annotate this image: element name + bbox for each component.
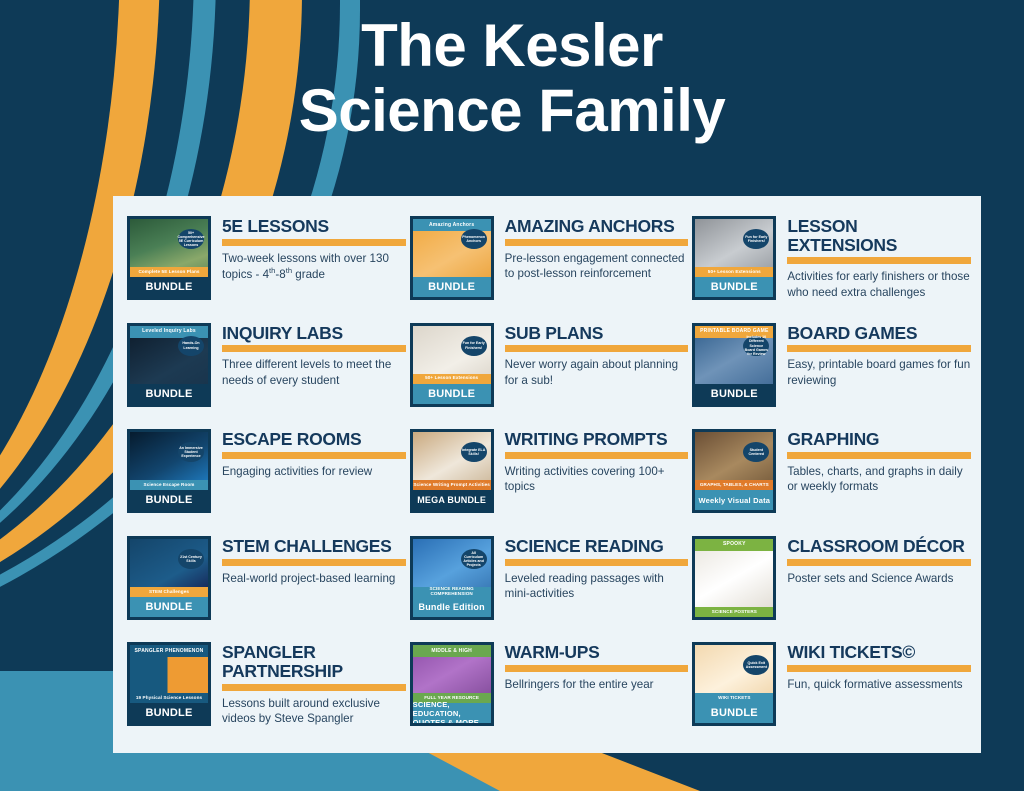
- product-divider: [505, 665, 689, 672]
- thumbnail-bundle-label: BUNDLE: [130, 277, 208, 297]
- product-divider: [787, 257, 971, 264]
- product-title: ESCAPE ROOMS: [222, 430, 406, 449]
- product-divider: [787, 452, 971, 459]
- product-description: Never worry again about planning for a s…: [505, 357, 689, 388]
- thumbnail-bundle-label: Weekly Visual Data: [695, 490, 773, 510]
- product-description: Engaging activities for review: [222, 464, 406, 479]
- product-thumbnail[interactable]: 21st Century SkillsSTEM ChallengesBUNDLE: [127, 536, 211, 620]
- thumbnail-sub-ribbon: SCIENCE READING COMPREHENSION: [413, 587, 491, 597]
- product-card[interactable]: Student CenteredGRAPHS, TABLES, & CHARTS…: [692, 423, 971, 530]
- product-title: LESSON EXTENSIONS: [787, 217, 971, 254]
- thumbnail-bundle-label: BUNDLE: [130, 703, 208, 723]
- product-divider: [505, 559, 689, 566]
- product-text: BOARD GAMESEasy, printable board games f…: [787, 321, 971, 389]
- thumbnail-sub-ribbon: SCIENCE POSTERS: [695, 607, 773, 617]
- product-card[interactable]: Fun for Early Finishers!50+ Lesson Exten…: [692, 210, 971, 317]
- product-thumbnail[interactable]: Amazing AnchorsPhenomenon AnchorsBUNDLE: [410, 216, 494, 300]
- product-title: WIKI TICKETS©: [787, 643, 971, 662]
- product-divider: [222, 345, 406, 352]
- product-text: CLASSROOM DÉCORPoster sets and Science A…: [787, 534, 971, 586]
- thumbnail-bundle-label: BUNDLE: [695, 703, 773, 723]
- product-title: GRAPHING: [787, 430, 971, 449]
- thumbnail-bundle-label: BUNDLE: [130, 384, 208, 404]
- thumbnail-badge: Integrate ELA Skills!: [461, 442, 487, 462]
- product-thumbnail[interactable]: MIDDLE & HIGHFULL YEAR RESOURCESCIENCE, …: [410, 642, 494, 726]
- product-divider: [505, 345, 689, 352]
- product-description: Poster sets and Science Awards: [787, 571, 971, 586]
- product-title: SUB PLANS: [505, 324, 689, 343]
- product-title: STEM CHALLENGES: [222, 537, 406, 556]
- thumbnail-badge: Hands-On Learning: [178, 336, 204, 356]
- product-text: WIKI TICKETS©Fun, quick formative assess…: [787, 640, 971, 692]
- product-description: Writing activities covering 100+ topics: [505, 464, 689, 495]
- product-thumbnail[interactable]: Fun for Early Finishers!50+ Lesson Exten…: [692, 216, 776, 300]
- product-title: INQUIRY LABS: [222, 324, 406, 343]
- product-title: 5E LESSONS: [222, 217, 406, 236]
- thumbnail-sub-ribbon: 50+ Lesson Extensions: [413, 374, 491, 384]
- product-card[interactable]: Leveled Inquiry LabsHands-On LearningBUN…: [127, 317, 406, 424]
- product-description: Three different levels to meet the needs…: [222, 357, 406, 388]
- product-card[interactable]: 21st Century SkillsSTEM ChallengesBUNDLE…: [127, 530, 406, 637]
- product-divider: [222, 452, 406, 459]
- thumbnail-bundle-label: BUNDLE: [695, 277, 773, 297]
- product-card[interactable]: Quick Exit AssessmentWIKI TICKETSBUNDLEW…: [692, 636, 971, 743]
- product-title: AMAZING ANCHORS: [505, 217, 689, 236]
- product-divider: [787, 345, 971, 352]
- product-thumbnail[interactable]: Leveled Inquiry LabsHands-On LearningBUN…: [127, 323, 211, 407]
- product-description: Two-week lessons with over 130 topics - …: [222, 251, 406, 283]
- product-text: ESCAPE ROOMSEngaging activities for revi…: [222, 427, 406, 479]
- product-description: Activities for early finishers or those …: [787, 269, 971, 300]
- thumbnail-badge: 50+ Comprehensive 5E Curriculum Lessons: [178, 229, 204, 249]
- desc-part: grade: [292, 268, 325, 281]
- product-text: AMAZING ANCHORSPre-lesson engagement con…: [505, 214, 689, 282]
- product-card[interactable]: MIDDLE & HIGHFULL YEAR RESOURCESCIENCE, …: [410, 636, 689, 743]
- product-description: Fun, quick formative assessments: [787, 677, 971, 692]
- desc-part: -8: [275, 268, 285, 281]
- product-thumbnail[interactable]: SPOOKYSCIENCE POSTERS: [692, 536, 776, 620]
- product-card[interactable]: Integrate ELA Skills!Science Writing Pro…: [410, 423, 689, 530]
- product-card[interactable]: Amazing AnchorsPhenomenon AnchorsBUNDLEA…: [410, 210, 689, 317]
- product-text: SUB PLANSNever worry again about plannin…: [505, 321, 689, 389]
- product-divider: [222, 559, 406, 566]
- product-title: CLASSROOM DÉCOR: [787, 537, 971, 556]
- product-title: BOARD GAMES: [787, 324, 971, 343]
- thumbnail-bundle-label: SCIENCE, EDUCATION, QUOTES & MORE: [413, 703, 491, 723]
- product-text: INQUIRY LABSThree different levels to me…: [222, 321, 406, 389]
- thumbnail-badge: 21st Century Skills: [178, 549, 204, 569]
- poster-root: The Kesler Science Family 50+ Comprehens…: [0, 0, 1024, 791]
- product-title: SCIENCE READING: [505, 537, 689, 556]
- thumbnail-bundle-label: BUNDLE: [413, 384, 491, 404]
- thumbnail-bundle-label: BUNDLE: [130, 490, 208, 510]
- thumbnail-badge: Phenomenon Anchors: [461, 229, 487, 249]
- product-text: SPANGLER PARTNERSHIPLessons built around…: [222, 640, 406, 726]
- title-line-2: Science Family: [0, 79, 1024, 144]
- product-thumbnail[interactable]: 50+ Comprehensive 5E Curriculum LessonsC…: [127, 216, 211, 300]
- product-description: Real-world project-based learning: [222, 571, 406, 586]
- thumbnail-bundle-label: BUNDLE: [130, 597, 208, 617]
- thumbnail-top-ribbon: SPANGLER PHENOMENON: [130, 645, 208, 657]
- product-text: LESSON EXTENSIONSActivities for early fi…: [787, 214, 971, 300]
- product-grid: 50+ Comprehensive 5E Curriculum LessonsC…: [127, 210, 971, 743]
- product-divider: [505, 452, 689, 459]
- product-description: Leveled reading passages with mini-activ…: [505, 571, 689, 602]
- product-divider: [505, 239, 689, 246]
- product-description: Pre-lesson engagement connected to post-…: [505, 251, 689, 282]
- product-thumbnail[interactable]: Student CenteredGRAPHS, TABLES, & CHARTS…: [692, 429, 776, 513]
- product-title: WARM-UPS: [505, 643, 689, 662]
- product-description: Lessons built around exclusive videos by…: [222, 696, 406, 727]
- product-title: WRITING PROMPTS: [505, 430, 689, 449]
- product-thumbnail[interactable]: SPANGLER PHENOMENON19 Physical Science L…: [127, 642, 211, 726]
- product-card[interactable]: Fun for Early Finishers!50+ Lesson Exten…: [410, 317, 689, 424]
- product-card[interactable]: SPANGLER PHENOMENON19 Physical Science L…: [127, 636, 406, 743]
- thumbnail-badge: All Curriculum Articles and Projects: [461, 549, 487, 569]
- thumbnail-bundle-label: Bundle Edition: [413, 597, 491, 617]
- product-text: GRAPHINGTables, charts, and graphs in da…: [787, 427, 971, 495]
- thumbnail-sub-ribbon: Science Writing Prompt Activities: [413, 480, 491, 490]
- thumbnail-bundle-label: BUNDLE: [413, 277, 491, 297]
- product-description: Bellringers for the entire year: [505, 677, 689, 692]
- product-card[interactable]: An Immersive Student ExperienceScience E…: [127, 423, 406, 530]
- thumbnail-sub-ribbon: Complete 5E Lesson Plans: [130, 267, 208, 277]
- thumbnail-sub-ribbon: Science Escape Room: [130, 480, 208, 490]
- product-divider: [787, 665, 971, 672]
- product-text: 5E LESSONSTwo-week lessons with over 130…: [222, 214, 406, 282]
- product-thumbnail[interactable]: PRINTABLE BOARD GAMEIncludes 10 Differen…: [692, 323, 776, 407]
- product-thumbnail[interactable]: Quick Exit AssessmentWIKI TICKETSBUNDLE: [692, 642, 776, 726]
- thumbnail-top-ribbon: Leveled Inquiry Labs: [130, 326, 208, 338]
- thumbnail-badge: Includes 10 Different Science Board Game…: [743, 336, 769, 356]
- product-thumbnail[interactable]: Fun for Early Finishers!50+ Lesson Exten…: [410, 323, 494, 407]
- product-description: Tables, charts, and graphs in daily or w…: [787, 464, 971, 495]
- thumbnail-sub-ribbon: STEM Challenges: [130, 587, 208, 597]
- thumbnail-bundle-label: MEGA BUNDLE: [413, 490, 491, 510]
- thumbnail-sub-ribbon: 19 Physical Science Lessons: [130, 693, 208, 703]
- product-text: STEM CHALLENGESReal-world project-based …: [222, 534, 406, 586]
- product-divider: [222, 239, 406, 246]
- product-thumbnail[interactable]: Integrate ELA Skills!Science Writing Pro…: [410, 429, 494, 513]
- page-title: The Kesler Science Family: [0, 14, 1024, 144]
- product-divider: [222, 684, 406, 691]
- product-card[interactable]: SPOOKYSCIENCE POSTERSCLASSROOM DÉCORPost…: [692, 530, 971, 637]
- product-title: SPANGLER PARTNERSHIP: [222, 643, 406, 680]
- thumbnail-sub-ribbon: GRAPHS, TABLES, & CHARTS: [695, 480, 773, 490]
- product-text: SCIENCE READINGLeveled reading passages …: [505, 534, 689, 602]
- thumbnail-sub-ribbon: WIKI TICKETS: [695, 693, 773, 703]
- product-card[interactable]: All Curriculum Articles and ProjectsSCIE…: [410, 530, 689, 637]
- thumbnail-top-ribbon: MIDDLE & HIGH: [413, 645, 491, 657]
- thumbnail-sub-ribbon: 50+ Lesson Extensions: [695, 267, 773, 277]
- product-thumbnail[interactable]: An Immersive Student ExperienceScience E…: [127, 429, 211, 513]
- product-text: WARM-UPSBellringers for the entire year: [505, 640, 689, 692]
- thumbnail-badge: Fun for Early Finishers!: [461, 336, 487, 356]
- thumbnail-top-ribbon: SPOOKY: [695, 539, 773, 551]
- product-card[interactable]: 50+ Comprehensive 5E Curriculum LessonsC…: [127, 210, 406, 317]
- product-description: Easy, printable board games for fun revi…: [787, 357, 971, 388]
- product-text: WRITING PROMPTSWriting activities coveri…: [505, 427, 689, 495]
- product-card[interactable]: PRINTABLE BOARD GAMEIncludes 10 Differen…: [692, 317, 971, 424]
- product-panel: 50+ Comprehensive 5E Curriculum LessonsC…: [113, 196, 981, 753]
- product-thumbnail[interactable]: All Curriculum Articles and ProjectsSCIE…: [410, 536, 494, 620]
- title-line-1: The Kesler: [361, 12, 663, 79]
- product-divider: [787, 559, 971, 566]
- thumbnail-bundle-label: BUNDLE: [695, 384, 773, 404]
